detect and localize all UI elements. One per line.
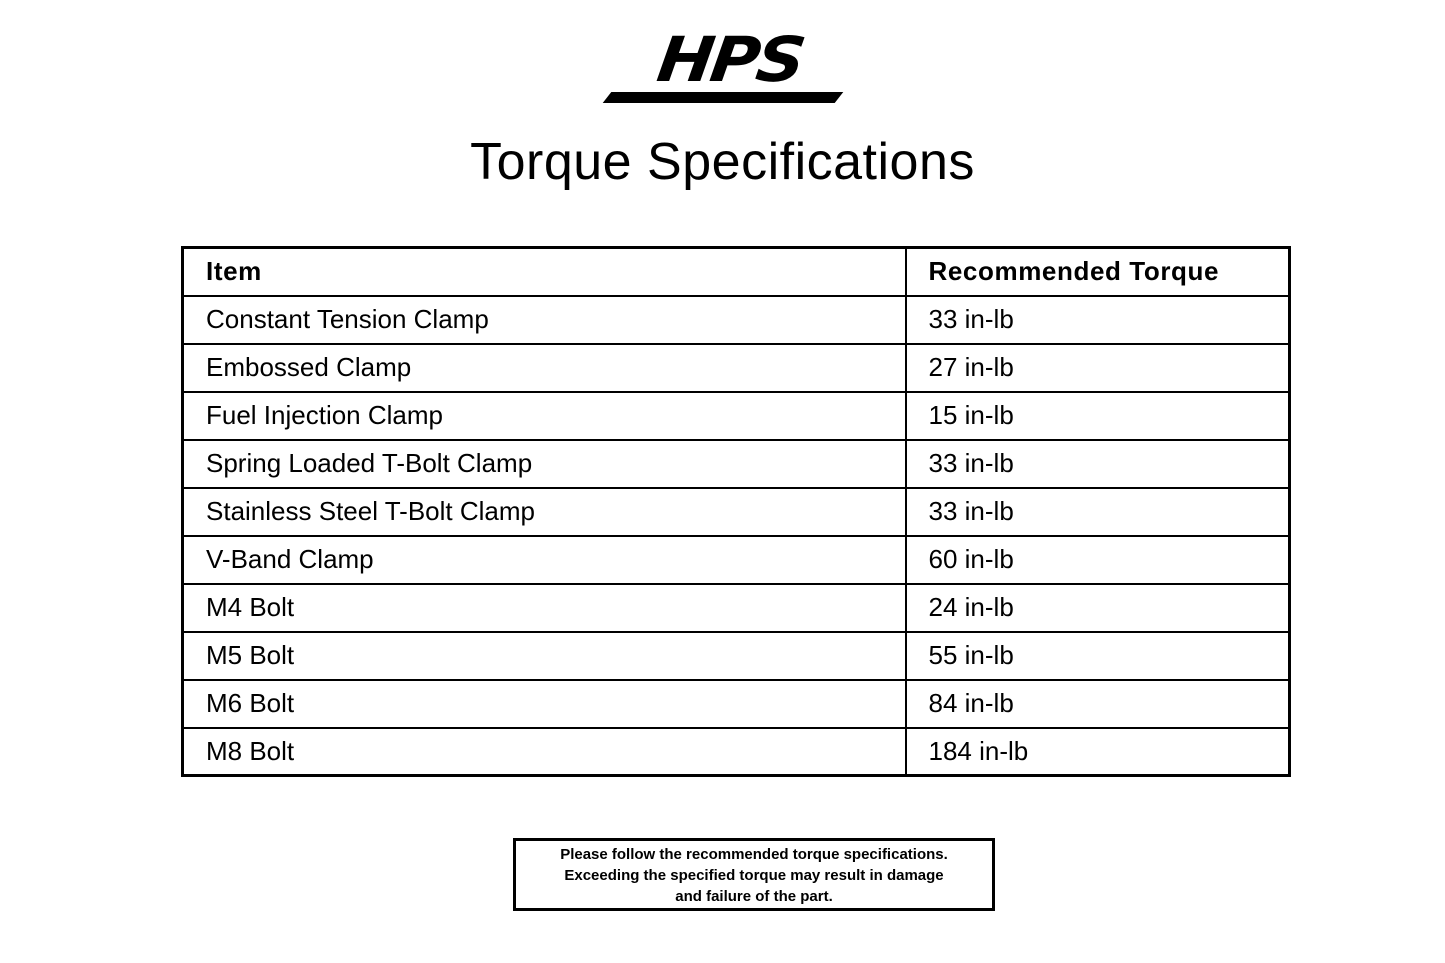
- table-row: Stainless Steel T-Bolt Clamp 33 in-lb: [183, 488, 1290, 536]
- cell-torque: 27 in-lb: [906, 344, 1290, 392]
- warning-note-box: Please follow the recommended torque spe…: [513, 838, 995, 911]
- cell-torque: 55 in-lb: [906, 632, 1290, 680]
- cell-torque: 33 in-lb: [906, 296, 1290, 344]
- cell-item: Constant Tension Clamp: [183, 296, 906, 344]
- torque-specifications-table: Item Recommended Torque Constant Tension…: [181, 246, 1288, 777]
- cell-item: M5 Bolt: [183, 632, 906, 680]
- cell-item: V-Band Clamp: [183, 536, 906, 584]
- cell-torque: 24 in-lb: [906, 584, 1290, 632]
- cell-item: Stainless Steel T-Bolt Clamp: [183, 488, 906, 536]
- table-row: Spring Loaded T-Bolt Clamp 33 in-lb: [183, 440, 1290, 488]
- cell-item: Fuel Injection Clamp: [183, 392, 906, 440]
- table-row: M5 Bolt 55 in-lb: [183, 632, 1290, 680]
- cell-item: M8 Bolt: [183, 728, 906, 776]
- cell-item: Embossed Clamp: [183, 344, 906, 392]
- note-line: Exceeding the specified torque may resul…: [564, 865, 943, 886]
- table-header-row: Item Recommended Torque: [183, 248, 1290, 296]
- table-row: Constant Tension Clamp 33 in-lb: [183, 296, 1290, 344]
- column-header-item: Item: [183, 248, 906, 296]
- cell-torque: 84 in-lb: [906, 680, 1290, 728]
- table-row: Embossed Clamp 27 in-lb: [183, 344, 1290, 392]
- table-row: M4 Bolt 24 in-lb: [183, 584, 1290, 632]
- hps-logo-wordmark: HPS: [647, 30, 806, 90]
- cell-torque: 33 in-lb: [906, 488, 1290, 536]
- cell-torque: 60 in-lb: [906, 536, 1290, 584]
- table-row: M8 Bolt 184 in-lb: [183, 728, 1290, 776]
- column-header-recommended-torque: Recommended Torque: [906, 248, 1290, 296]
- table-body: Constant Tension Clamp 33 in-lb Embossed…: [183, 296, 1290, 776]
- cell-item: M4 Bolt: [183, 584, 906, 632]
- cell-torque: 33 in-lb: [906, 440, 1290, 488]
- table-row: M6 Bolt 84 in-lb: [183, 680, 1290, 728]
- logo-underline-bar: [602, 92, 843, 103]
- cell-item: Spring Loaded T-Bolt Clamp: [183, 440, 906, 488]
- table-row: Fuel Injection Clamp 15 in-lb: [183, 392, 1290, 440]
- brand-logo: HPS: [0, 30, 1445, 110]
- note-line: and failure of the part.: [675, 886, 833, 907]
- cell-torque: 184 in-lb: [906, 728, 1290, 776]
- page-title: Torque Specifications: [0, 132, 1445, 192]
- note-line: Please follow the recommended torque spe…: [560, 844, 948, 865]
- table-row: V-Band Clamp 60 in-lb: [183, 536, 1290, 584]
- cell-item: M6 Bolt: [183, 680, 906, 728]
- cell-torque: 15 in-lb: [906, 392, 1290, 440]
